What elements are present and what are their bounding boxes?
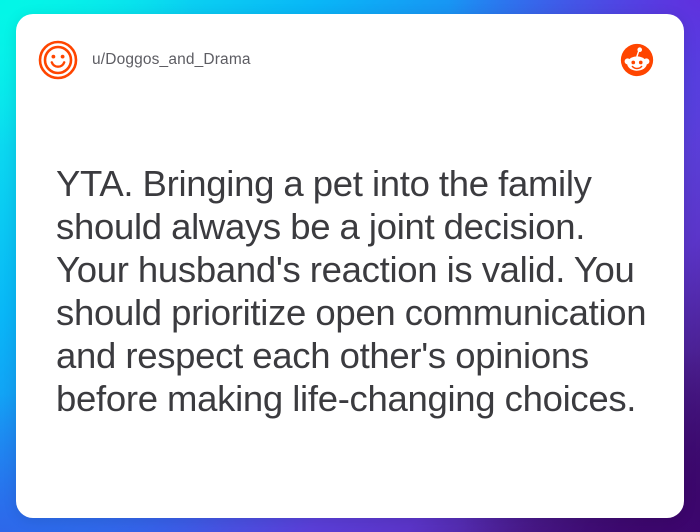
username-label: u/Doggos_and_Drama <box>92 51 251 69</box>
card-body: YTA. Bringing a pet into the family shou… <box>56 162 648 420</box>
post-text: YTA. Bringing a pet into the family shou… <box>56 162 648 420</box>
post-card: u/Doggos_and_Drama YTA. Bringing a pet i… <box>16 14 684 518</box>
smiley-face-avatar-icon[interactable] <box>38 40 78 80</box>
card-header: u/Doggos_and_Drama <box>16 14 684 106</box>
reddit-snoo-logo-icon[interactable] <box>620 43 654 77</box>
